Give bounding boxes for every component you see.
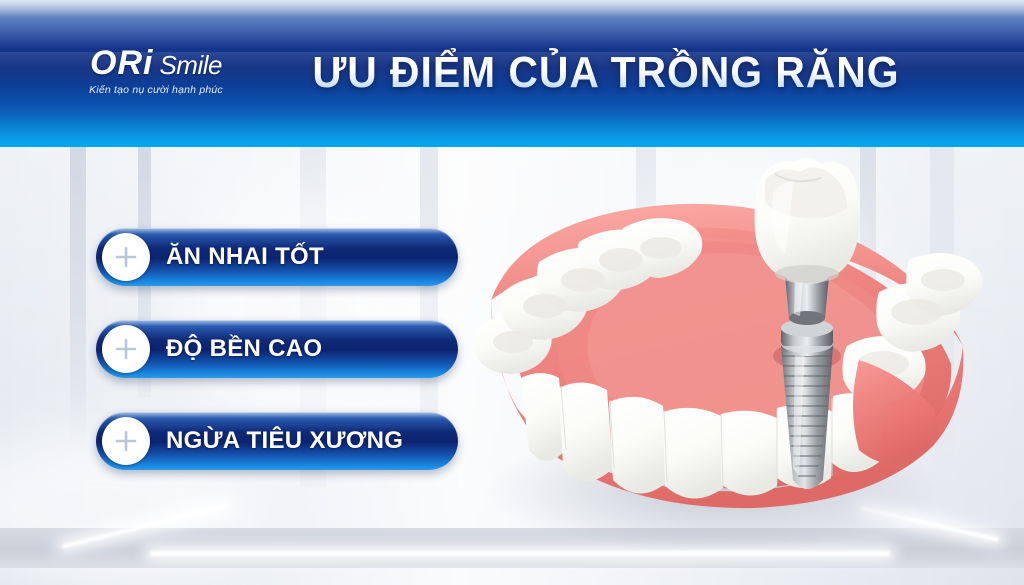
page-title: ƯU ĐIỂM CỦA TRỒNG RĂNG IMPLANT: [312, 44, 907, 102]
brand-name-smile: Smile: [159, 50, 222, 80]
poster-canvas: ORiSmile Kiến tạo nụ cười hạnh phúc ƯU Đ…: [0, 0, 1024, 585]
feature-pill-label: NGỪA TIÊU XƯƠNG: [166, 427, 403, 455]
brand-name-ori: ORi: [90, 44, 153, 82]
feature-list: ĂN NHAI TỐT ĐỘ BỀN CAO NGỪA TIÊU XƯƠNG: [96, 228, 458, 504]
header-bar: ORiSmile Kiến tạo nụ cười hạnh phúc ƯU Đ…: [0, 0, 1024, 147]
feature-pill-ngua-tieu-xuong[interactable]: NGỪA TIÊU XƯƠNG: [96, 412, 458, 470]
plus-circle-icon: [102, 233, 150, 281]
feature-pill-an-nhai-tot[interactable]: ĂN NHAI TỐT: [96, 228, 458, 286]
feature-pill-label: ĂN NHAI TỐT: [166, 243, 324, 271]
dental-implant-jaw-model: [455, 150, 995, 550]
plus-circle-icon: [102, 417, 150, 465]
background-strip: [70, 147, 86, 447]
brand-logo[interactable]: ORiSmile Kiến tạo nụ cười hạnh phúc: [56, 46, 256, 96]
brand-logo-wordmark: ORiSmile: [56, 46, 256, 80]
feature-pill-label: ĐỘ BỀN CAO: [166, 335, 322, 363]
implant-crown: [755, 157, 861, 283]
plus-circle-icon: [102, 325, 150, 373]
brand-tagline: Kiến tạo nụ cười hạnh phúc: [56, 84, 256, 96]
background-lightbar: [150, 551, 890, 556]
feature-pill-do-ben-cao[interactable]: ĐỘ BỀN CAO: [96, 320, 458, 378]
